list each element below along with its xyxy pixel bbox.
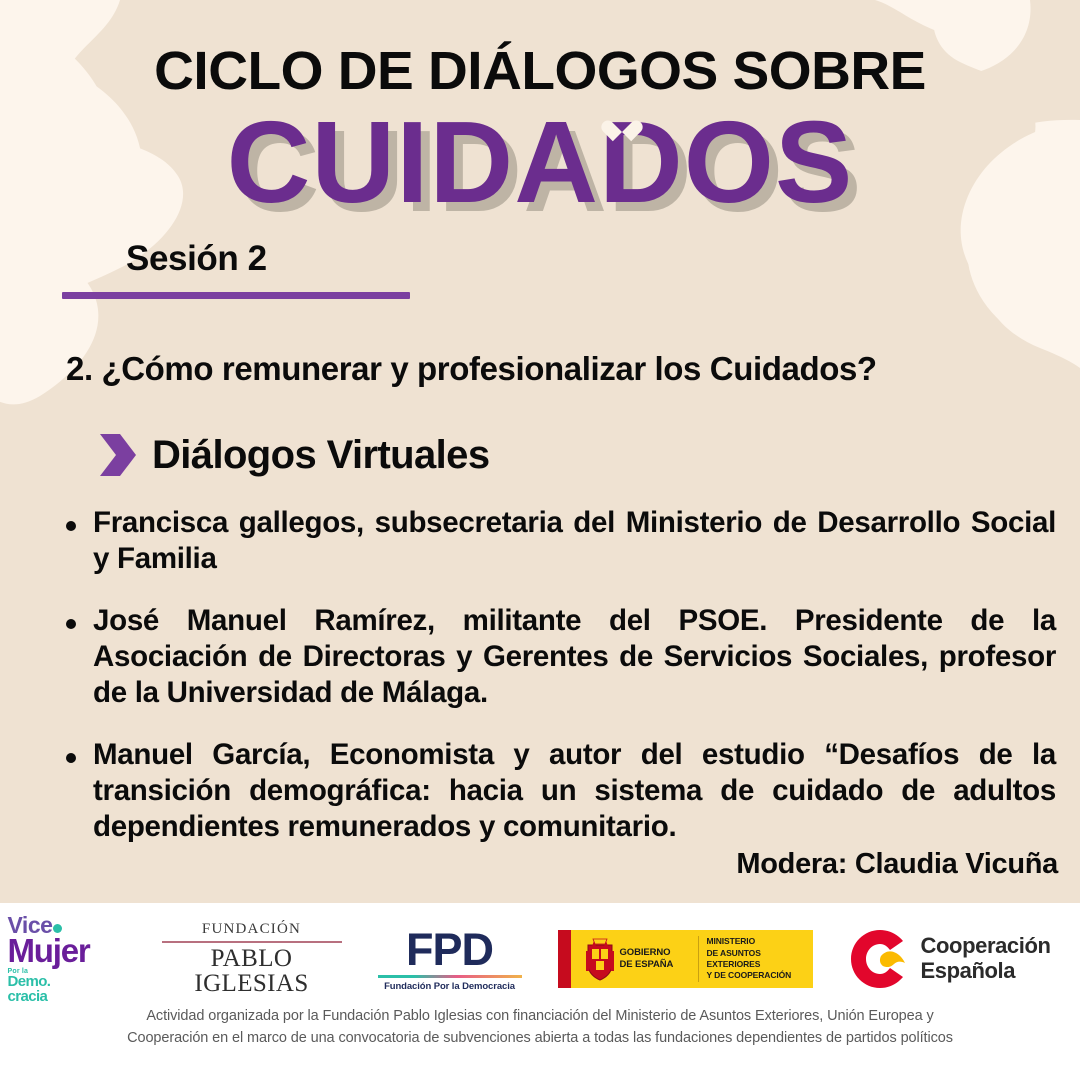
logo-ministerio-line3: Y DE COOPERACIÓN [707, 970, 813, 981]
logo-vice-mujer: Vice Mujer Por la Demo. cracia [8, 914, 126, 1004]
logo-vice-mujer-line1: Vice [8, 914, 53, 937]
poster-canvas: CICLO DE DIÁLOGOS SOBRE CUIDADOS Sesión … [0, 0, 1080, 1080]
session-block: Sesión 2 [0, 240, 1080, 299]
footer-disclaimer: Actividad organizada por la Fundación Pa… [60, 1005, 1020, 1050]
moderator-label: Modera: Claudia Vicuña [0, 848, 1058, 881]
sponsor-logo-strip: Vice Mujer Por la Demo. cracia FUNDACIÓN… [0, 920, 1080, 998]
poster-footer: Vice Mujer Por la Demo. cracia FUNDACIÓN… [0, 903, 1080, 1080]
subhead-row: Diálogos Virtuales [98, 432, 489, 478]
speaker-list: Francisca gallegos, subsecretaria del Mi… [66, 505, 1056, 871]
logo-ministerio-line2: DE ASUNTOS EXTERIORES [707, 948, 813, 971]
logo-ministerio-text: MINISTERIO DE ASUNTOS EXTERIORES Y DE CO… [699, 930, 813, 988]
session-question: 2. ¿Cómo remunerar y profesionalizar los… [66, 350, 1046, 388]
list-item: Francisca gallegos, subsecretaria del Mi… [66, 505, 1056, 577]
page-title-line2: CUIDADOS [0, 102, 1080, 224]
logo-cooperacion-text: Cooperación Española [921, 934, 1051, 983]
poster-header: CICLO DE DIÁLOGOS SOBRE CUIDADOS [0, 0, 1080, 224]
page-title-line1: CICLO DE DIÁLOGOS SOBRE [0, 44, 1080, 98]
logo-gobierno-line2: DE ESPAÑA [620, 959, 674, 971]
speaker-description: Francisca gallegos, subsecretaria del Mi… [93, 505, 1056, 577]
logo-ministerio-line1: MINISTERIO [707, 936, 813, 947]
heart-icon [609, 112, 635, 136]
logo-vice-mujer-line5: cracia [8, 990, 126, 1004]
logo-fpd: FPD Fundación Por la Democracia [378, 927, 522, 992]
bullet-icon [66, 619, 76, 629]
logo-fpd-subtitle: Fundación Por la Democracia [378, 982, 522, 992]
logo-cooperacion-espanola: Cooperación Española [849, 928, 1073, 990]
logo-vice-mujer-line2: Mujer [8, 934, 126, 967]
logo-cooperacion-line1: Cooperación [921, 934, 1051, 959]
list-item: Manuel García, Economista y autor del es… [66, 737, 1056, 845]
bullet-icon [66, 521, 76, 531]
session-divider [62, 292, 410, 299]
bullet-icon [66, 753, 76, 763]
logo-gobierno-text: GOBIERNO DE ESPAÑA [620, 930, 698, 988]
logo-gobierno-line1: GOBIERNO [620, 947, 674, 959]
flag-stripe-red-icon [558, 930, 571, 988]
footer-disclaimer-line1: Actividad organizada por la Fundación Pa… [60, 1005, 1020, 1027]
coat-of-arms-icon [580, 930, 620, 988]
logo-fpi-line2: PABLO IGLESIAS [162, 946, 342, 996]
footer-disclaimer-line2: Cooperación en el marco de una convocato… [60, 1027, 1020, 1049]
logo-gobierno-de-espana: GOBIERNO DE ESPAÑA MINISTERIO DE ASUNTOS… [558, 930, 813, 988]
subhead-label: Diálogos Virtuales [152, 435, 489, 475]
speaker-description: Manuel García, Economista y autor del es… [93, 737, 1056, 845]
logo-fpd-acronym: FPD [378, 927, 522, 972]
logo-fundacion-pablo-iglesias: FUNDACIÓN PABLO IGLESIAS [162, 922, 342, 996]
flag-stripe-yellow-icon [571, 930, 580, 988]
session-label: Sesión 2 [126, 240, 1080, 279]
logo-cooperacion-line2: Española [921, 959, 1051, 984]
list-item: José Manuel Ramírez, militante del PSOE.… [66, 603, 1056, 711]
logo-fpd-divider [378, 975, 522, 978]
logo-fpi-divider [162, 941, 342, 943]
cooperacion-c-icon [849, 928, 911, 990]
chevron-right-icon [98, 432, 138, 478]
speaker-description: José Manuel Ramírez, militante del PSOE.… [93, 603, 1056, 711]
logo-fpi-line1: FUNDACIÓN [162, 922, 342, 937]
